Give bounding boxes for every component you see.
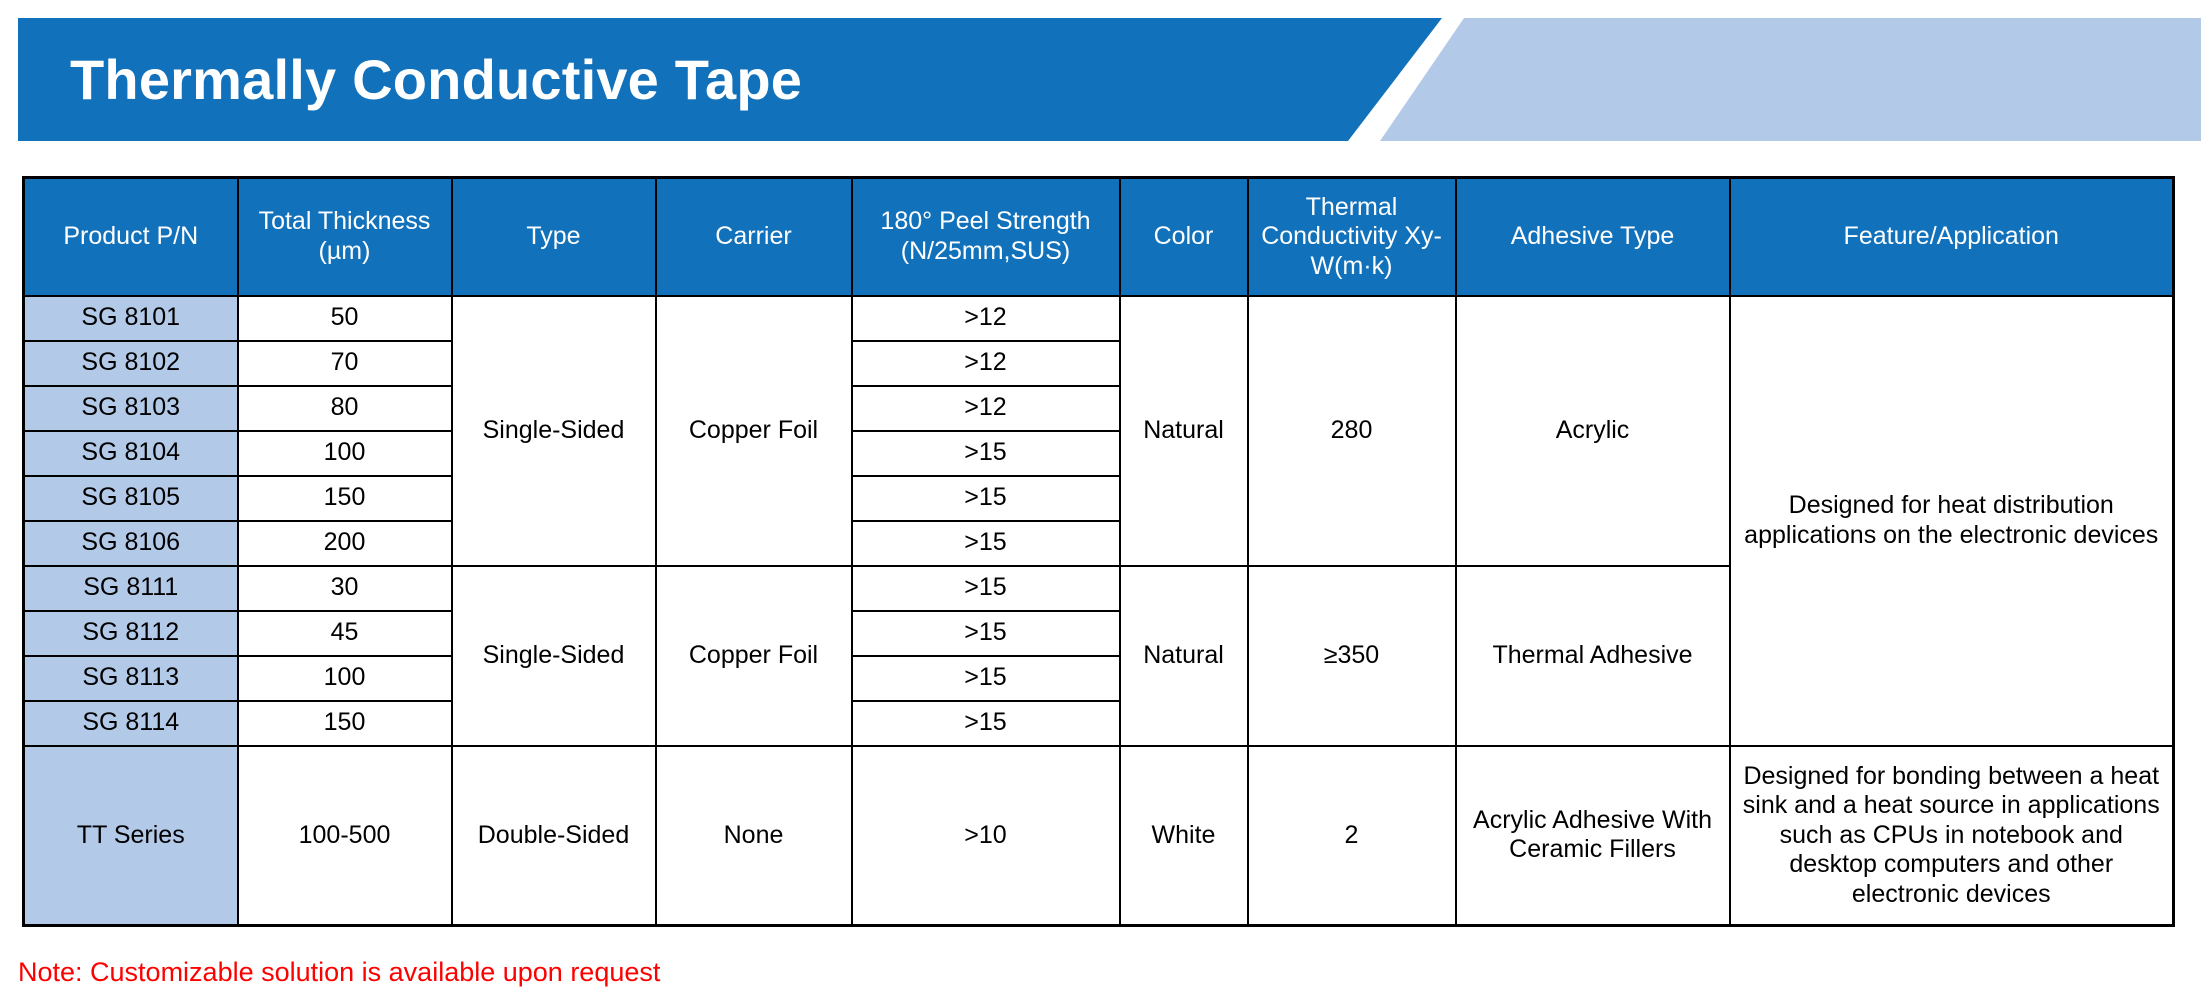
cell-thickness: 80	[238, 386, 452, 431]
cell-thickness: 45	[238, 611, 452, 656]
cell-color: Natural	[1120, 566, 1248, 746]
cell-adhesive-type: Thermal Adhesive	[1456, 566, 1730, 746]
banner-light-shape	[1380, 18, 2201, 141]
table-body: SG 8101 50 Single-Sided Copper Foil >12 …	[24, 296, 2174, 926]
cell-thickness: 100-500	[238, 746, 452, 926]
cell-product-pn: SG 8114	[24, 701, 238, 746]
cell-carrier: Copper Foil	[656, 296, 852, 566]
table-row: TT Series 100-500 Double-Sided None >10 …	[24, 746, 2174, 926]
table-head: Product P/N Total Thickness (µm) Type Ca…	[24, 178, 2174, 296]
cell-peel-strength: >15	[852, 476, 1120, 521]
header-line: Conductivity Xy-	[1261, 222, 1442, 250]
header-line: Carrier	[715, 222, 791, 250]
header-line: Feature/Application	[1844, 222, 2059, 250]
cell-type: Double-Sided	[452, 746, 656, 926]
cell-peel-strength: >15	[852, 431, 1120, 476]
adhesive-line: Acrylic Adhesive With	[1473, 806, 1712, 834]
cell-thermal-conductivity: ≥350	[1248, 566, 1456, 746]
cell-adhesive-type: Acrylic	[1456, 296, 1730, 566]
header-line: 180° Peel Strength	[880, 207, 1090, 235]
cell-color: Natural	[1120, 296, 1248, 566]
cell-thickness: 200	[238, 521, 452, 566]
title-banner: Thermally Conductive Tape	[0, 18, 2201, 141]
cell-product-pn: SG 8111	[24, 566, 238, 611]
cell-peel-strength: >10	[852, 746, 1120, 926]
spec-table-wrapper: Product P/N Total Thickness (µm) Type Ca…	[22, 176, 2172, 927]
col-header-color: Color	[1120, 178, 1248, 296]
header-line: (N/25mm,SUS)	[901, 237, 1070, 265]
adhesive-line: Ceramic Fillers	[1509, 835, 1676, 863]
col-header-carrier: Carrier	[656, 178, 852, 296]
cell-peel-strength: >15	[852, 701, 1120, 746]
cell-thickness: 100	[238, 431, 452, 476]
cell-product-pn: SG 8105	[24, 476, 238, 521]
header-line: Type	[526, 222, 580, 250]
header-line: (µm)	[319, 237, 371, 265]
cell-carrier: None	[656, 746, 852, 926]
cell-thickness: 150	[238, 701, 452, 746]
cell-peel-strength: >12	[852, 296, 1120, 341]
col-header-adhesive-type: Adhesive Type	[1456, 178, 1730, 296]
cell-peel-strength: >12	[852, 386, 1120, 431]
note-text: Note: Customizable solution is available…	[18, 957, 660, 988]
cell-product-pn: SG 8101	[24, 296, 238, 341]
header-line: Adhesive Type	[1511, 222, 1675, 250]
cell-product-pn: SG 8102	[24, 341, 238, 386]
slide-page: Thermally Conductive Tape Product P/N To…	[0, 0, 2201, 996]
cell-carrier: Copper Foil	[656, 566, 852, 746]
cell-product-pn: SG 8104	[24, 431, 238, 476]
header-line: Color	[1154, 222, 1214, 250]
cell-thickness: 150	[238, 476, 452, 521]
cell-thickness: 100	[238, 656, 452, 701]
header-line: W(m·k)	[1311, 252, 1393, 280]
cell-feature-application: Designed for heat distribution applicati…	[1730, 296, 2174, 746]
cell-peel-strength: >12	[852, 341, 1120, 386]
cell-peel-strength: >15	[852, 611, 1120, 656]
cell-thermal-conductivity: 2	[1248, 746, 1456, 926]
col-header-product-pn: Product P/N	[24, 178, 238, 296]
spec-table: Product P/N Total Thickness (µm) Type Ca…	[22, 176, 2175, 927]
cell-peel-strength: >15	[852, 566, 1120, 611]
cell-adhesive-type: Acrylic Adhesive With Ceramic Fillers	[1456, 746, 1730, 926]
cell-feature-application: Designed for bonding between a heat sink…	[1730, 746, 2174, 926]
cell-product-pn: SG 8112	[24, 611, 238, 656]
page-title: Thermally Conductive Tape	[70, 18, 802, 141]
col-header-total-thickness: Total Thickness (µm)	[238, 178, 452, 296]
table-row: SG 8101 50 Single-Sided Copper Foil >12 …	[24, 296, 2174, 341]
header-line: Thermal	[1306, 193, 1398, 221]
cell-color: White	[1120, 746, 1248, 926]
cell-product-pn: TT Series	[24, 746, 238, 926]
cell-product-pn: SG 8106	[24, 521, 238, 566]
cell-product-pn: SG 8113	[24, 656, 238, 701]
cell-peel-strength: >15	[852, 656, 1120, 701]
cell-thickness: 70	[238, 341, 452, 386]
col-header-thermal-conductivity: Thermal Conductivity Xy- W(m·k)	[1248, 178, 1456, 296]
cell-type: Single-Sided	[452, 566, 656, 746]
cell-thickness: 30	[238, 566, 452, 611]
cell-peel-strength: >15	[852, 521, 1120, 566]
header-line: Total Thickness	[259, 207, 431, 235]
header-row: Product P/N Total Thickness (µm) Type Ca…	[24, 178, 2174, 296]
cell-product-pn: SG 8103	[24, 386, 238, 431]
cell-thickness: 50	[238, 296, 452, 341]
header-line: Product P/N	[63, 222, 198, 250]
col-header-feature-application: Feature/Application	[1730, 178, 2174, 296]
col-header-peel-strength: 180° Peel Strength (N/25mm,SUS)	[852, 178, 1120, 296]
cell-thermal-conductivity: 280	[1248, 296, 1456, 566]
cell-type: Single-Sided	[452, 296, 656, 566]
col-header-type: Type	[452, 178, 656, 296]
